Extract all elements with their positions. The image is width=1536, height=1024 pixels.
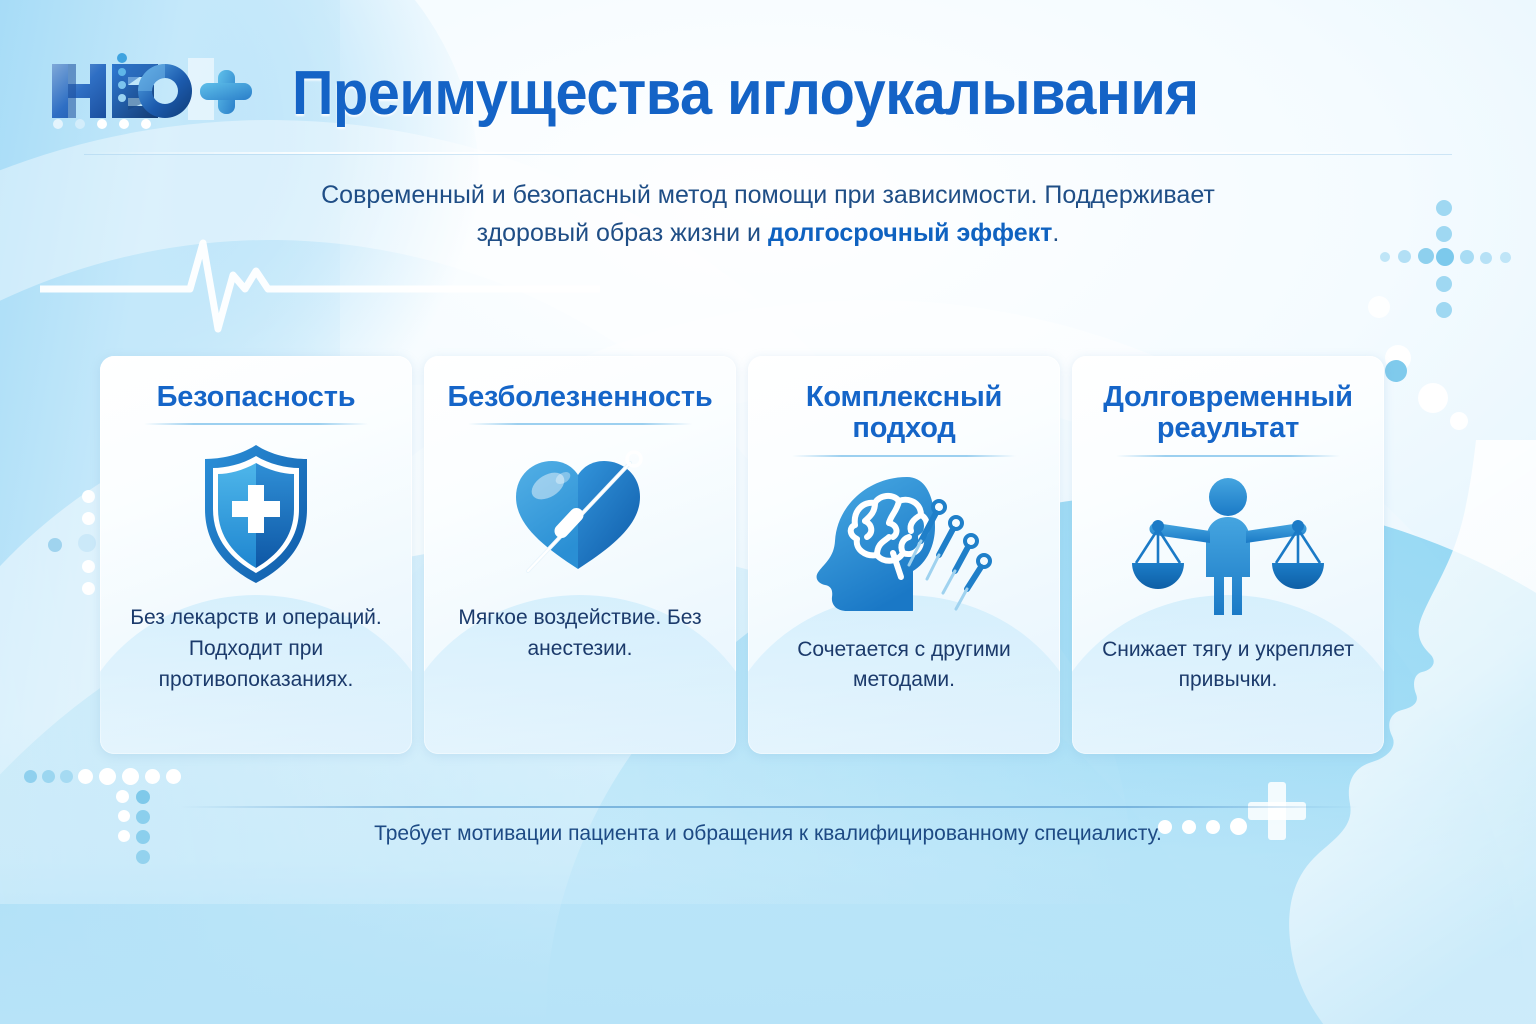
subtitle-line-2-suffix: . xyxy=(1052,219,1059,247)
header-divider xyxy=(84,152,1452,154)
decor-circle-d xyxy=(1418,383,1448,413)
card-divider xyxy=(144,423,368,425)
page-subtitle: Современный и безопасный метод помощи пр… xyxy=(293,176,1243,252)
benefit-card-painless[interactable]: Безболезненность xyxy=(424,356,736,754)
card-title-complex-approach: Комплексный подход xyxy=(764,382,1044,445)
subtitle-line-2-prefix: здоровый образ жизни и xyxy=(477,219,768,247)
benefit-card-long-term-result[interactable]: Долговременный реаультат xyxy=(1072,356,1384,754)
decor-circle-e xyxy=(1450,412,1468,430)
footer-divider xyxy=(180,806,1360,808)
page-header: Преимущества иглоукалывания xyxy=(0,0,1536,152)
footer-disclaimer: Требует мотивации пациента и обращения к… xyxy=(374,822,1162,846)
subtitle-line-1: Современный и безопасный метод помощи пр… xyxy=(321,181,1215,209)
card-divider xyxy=(792,455,1016,457)
card-text-safety: Без лекарств и операций. Подходит при пр… xyxy=(114,603,398,695)
card-title-painless: Безболезненность xyxy=(440,382,720,413)
decor-circle-b xyxy=(1368,296,1390,318)
card-text-complex-approach: Сочетается с другими методами. xyxy=(762,635,1046,696)
heart-needle-icon xyxy=(424,439,736,589)
subtitle-highlight: долгосрочный эффект xyxy=(768,219,1052,247)
card-text-painless: Мягкое воздействие. Без анестезии. xyxy=(438,603,722,664)
benefit-card-safety[interactable]: Безопасность xyxy=(100,356,412,754)
page-title: Преимущества иглоукалывания xyxy=(292,58,1199,129)
card-text-long-term-result: Снижает тягу и укрепляет привычки. xyxy=(1086,635,1370,696)
card-divider xyxy=(1116,455,1340,457)
card-title-long-term-result: Долговременный реаультат xyxy=(1088,382,1368,445)
card-title-safety: Безопасность xyxy=(116,382,396,413)
balance-scales-person-icon xyxy=(1072,471,1384,621)
benefit-card-complex-approach[interactable]: Комплексный подход xyxy=(748,356,1060,754)
head-brain-needles-icon xyxy=(748,471,1060,621)
brand-logo-neo-plus[interactable] xyxy=(48,52,252,130)
medical-plus-glyph-icon: [data-name="medical-plus-glyph-icon"]::b… xyxy=(1248,782,1306,840)
shield-cross-icon xyxy=(100,439,412,589)
card-divider xyxy=(468,423,692,425)
benefits-card-row: Безопасность xyxy=(100,356,1390,754)
